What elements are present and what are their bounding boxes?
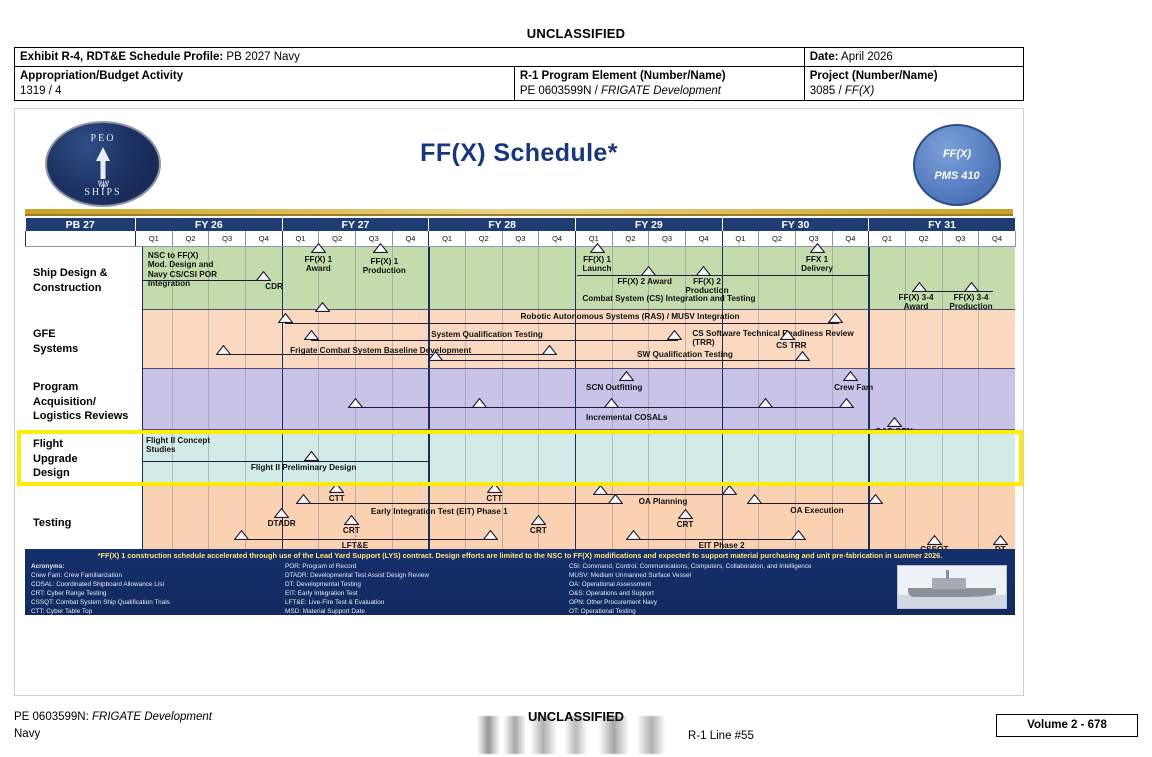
q-3-3: Q4 [685, 231, 722, 247]
gridline [428, 430, 429, 482]
acronyms-column-2: POR: Program of Record DTADR: Developmen… [285, 562, 569, 615]
schedule-bar [601, 494, 733, 495]
date-label: Date: [810, 51, 839, 63]
appropriation-cell: Appropriation/Budget Activity 1319 / 4 [15, 67, 515, 101]
gridline [208, 310, 209, 368]
gridline [318, 369, 319, 429]
q-0-1: Q2 [172, 231, 209, 247]
gridline [465, 247, 466, 309]
q-2-3: Q4 [539, 231, 576, 247]
milestone-triangle-icon [274, 508, 289, 518]
milestone-triangle-icon [993, 535, 1008, 545]
acronym-item: POR: Program of Record [285, 562, 555, 571]
program-element-cell: R-1 Program Element (Number/Name) PE 060… [514, 67, 804, 101]
milestone-triangle-icon [678, 509, 693, 519]
q-2-0: Q1 [429, 231, 466, 247]
acronym-item: MSD: Material Support Date [285, 607, 555, 615]
gridline [245, 369, 246, 429]
gridline [428, 369, 429, 429]
date-cell: Date: April 2026 [804, 48, 1023, 67]
program-element-number: PE 0603599N / [520, 85, 598, 97]
acronym-item: DTADR: Developmental Test Assist Design … [285, 571, 555, 580]
quarter-header-spacer [26, 231, 136, 247]
badge-line1: FF(X) [915, 148, 999, 160]
acronyms-column-1: Acronyms: Crew Fam: Crew Familiarization… [31, 562, 285, 615]
schedule-label: OA Planning [639, 497, 688, 506]
acronym-item: DT: Developmental Testing [285, 580, 555, 589]
schedule-label: CTT [486, 494, 502, 503]
schedule-label: CS Software Technical Readiness Review(T… [692, 329, 853, 348]
q-4-0: Q1 [722, 231, 759, 247]
milestone-triangle-icon [483, 530, 498, 540]
acronym-item: O&S: Operations and Support [569, 589, 859, 598]
acronym-item: CRT: Cyber Range Testing [31, 589, 271, 598]
schedule-label: FF(X) 1Production [363, 257, 406, 276]
milestone-triangle-icon [373, 243, 388, 253]
schedule-label: Combat System (CS) Integration and Testi… [582, 294, 755, 303]
milestone-triangle-icon [619, 371, 634, 381]
schedule-label: CRT [530, 526, 547, 535]
schedule-label: CDR [265, 282, 283, 291]
gridline [832, 369, 833, 429]
footer-service: Navy [14, 726, 212, 743]
gantt-chart: PB 27 FY 26 FY 27 FY 28 FY 29 FY 30 FY 3… [25, 218, 1015, 558]
gantt-corner-label: PB 27 [26, 218, 136, 231]
gridline [942, 247, 943, 309]
gridline [172, 369, 173, 429]
gridline [832, 483, 833, 557]
fy-header-0: FY 26 [136, 218, 283, 231]
milestone-triangle-icon [593, 485, 608, 495]
schedule-label: OA Execution [790, 506, 843, 515]
schedule-label: Crew Fam [834, 383, 873, 392]
gridline [208, 483, 209, 557]
gridline [868, 430, 869, 482]
gridline [868, 247, 869, 309]
milestone-triangle-icon [428, 351, 443, 361]
schedule-label: FF(X) 2 Award [617, 277, 672, 286]
schedule-bar [436, 360, 810, 361]
gridline [942, 310, 943, 368]
q-2-2: Q3 [502, 231, 539, 247]
gridline [282, 247, 283, 309]
gantt-lanes: NSC to FF(X)Mod. Design andNavy CS/CSI P… [25, 247, 1015, 558]
milestone-triangle-icon [795, 351, 810, 361]
appropriation-label: Appropriation/Budget Activity [20, 69, 509, 83]
q-4-1: Q2 [759, 231, 796, 247]
gridline [795, 247, 796, 309]
acronym-item: Crew Fam: Crew Familiarization [31, 571, 271, 580]
photo-superstructure [932, 578, 966, 589]
milestone-triangle-icon [722, 485, 737, 495]
schedule-bar [311, 340, 678, 341]
milestone-triangle-icon [758, 398, 773, 408]
gridline [428, 483, 429, 557]
q-5-2: Q3 [942, 231, 979, 247]
q-3-2: Q3 [649, 231, 686, 247]
gridline [795, 430, 796, 482]
milestone-triangle-icon [256, 271, 271, 281]
gridline [905, 369, 906, 429]
gridline [465, 369, 466, 429]
acronyms-column-3: C5I: Command, Control, Communications, C… [569, 562, 873, 615]
project-number: 3085 / [810, 85, 842, 97]
milestone-triangle-icon [667, 330, 682, 340]
schedule-label: Flight II ConceptStudies [146, 436, 210, 455]
gridline [575, 369, 576, 429]
schedule-label: NSC to FF(X)Mod. Design andNavy CS/CSI P… [148, 251, 217, 289]
program-element-name: FRIGATE Development [601, 85, 721, 97]
milestone-triangle-icon [912, 282, 927, 292]
acronym-item: CTT: Cyber Table Top [31, 607, 271, 615]
schedule-label: Early Integration Test (EIT) Phase 1 [371, 507, 508, 516]
milestone-triangle-icon [329, 483, 344, 493]
milestone-triangle-icon [304, 451, 319, 461]
gridline [942, 430, 943, 482]
milestone-triangle-icon [296, 494, 311, 504]
gridline [685, 430, 686, 482]
schedule-label: Robotic Autonomous Systems (RAS) / MUSV … [521, 312, 740, 321]
gantt-lane-gfe-systems: Robotic Autonomous Systems (RAS) / MUSV … [25, 310, 1015, 369]
lane-label-flight-upgrade: FlightUpgradeDesign [25, 430, 143, 488]
gridline [172, 483, 173, 557]
gold-divider-shadow [25, 214, 1013, 216]
q-0-2: Q3 [209, 231, 246, 247]
lane-label-ship-design: Ship Design &Construction [25, 247, 143, 315]
gridline [392, 369, 393, 429]
milestone-triangle-icon [868, 494, 883, 504]
gridline [978, 430, 979, 482]
gridline [575, 247, 576, 309]
gridline [868, 369, 869, 429]
milestone-triangle-icon [487, 483, 502, 493]
q-0-0: Q1 [136, 231, 173, 247]
appropriation-value: 1319 / 4 [20, 84, 509, 98]
milestone-triangle-icon [791, 530, 806, 540]
gridline [538, 247, 539, 309]
gridline [905, 483, 906, 557]
schedule-label: Incremental COSALs [586, 413, 667, 422]
milestone-triangle-icon [348, 398, 363, 408]
gridline [282, 430, 283, 482]
q-0-3: Q4 [245, 231, 282, 247]
gridline [318, 483, 319, 557]
gridline [355, 247, 356, 309]
milestone-triangle-icon [747, 494, 762, 504]
footer-r1-line: R-1 Line #55 [688, 730, 754, 742]
gridline [245, 430, 246, 482]
gridline [502, 369, 503, 429]
gridline [905, 430, 906, 482]
gridline [942, 369, 943, 429]
photo-mast [946, 570, 949, 579]
fy-header-1: FY 27 [282, 218, 429, 231]
milestone-triangle-icon [344, 515, 359, 525]
gridline [978, 310, 979, 368]
q-5-0: Q1 [869, 231, 906, 247]
gantt-table: PB 27 FY 26 FY 27 FY 28 FY 29 FY 30 FY 3… [25, 218, 1016, 247]
milestone-triangle-icon [839, 398, 854, 408]
q-1-3: Q4 [392, 231, 429, 247]
milestone-triangle-icon [927, 535, 942, 545]
acronym-item: COSAL: Coordinated Shipboard Allowance L… [31, 580, 271, 589]
gridline [575, 430, 576, 482]
acronyms-heading: Acronyms: [31, 562, 271, 571]
milestone-triangle-icon [604, 398, 619, 408]
acronym-item: OPN: Other Procurement Navy [569, 598, 859, 607]
schedule-label: System Qualification Testing [431, 330, 543, 339]
gridline [795, 369, 796, 429]
gridline [355, 310, 356, 368]
milestone-triangle-icon [311, 243, 326, 253]
gridline [832, 430, 833, 482]
slide-title: FF(X) Schedule* [15, 139, 1023, 168]
milestone-triangle-icon [531, 515, 546, 525]
schedule-label: SW Qualification Testing [637, 350, 733, 359]
project-cell: Project (Number/Name) 3085 / FF(X) [804, 67, 1023, 101]
gridline [868, 310, 869, 368]
gridline [538, 369, 539, 429]
milestone-triangle-icon [843, 371, 858, 381]
classification-banner-bottom: UNCLASSIFIED [0, 709, 1152, 724]
gridline [355, 430, 356, 482]
milestone-triangle-icon [304, 330, 319, 340]
gridline [502, 247, 503, 309]
lane-body-testing: CTTCTTEarly Integration Test (EIT) Phase… [135, 483, 1015, 557]
project-name: FF(X) [845, 85, 874, 97]
schedule-label: Flight II Preliminary Design [251, 463, 357, 472]
fiscal-year-header-row: PB 27 FY 26 FY 27 FY 28 FY 29 FY 30 FY 3… [26, 218, 1016, 231]
gridline [208, 369, 209, 429]
lane-body-ship-design: NSC to FF(X)Mod. Design andNavy CS/CSI P… [135, 247, 1015, 309]
r4-header-table: Exhibit R-4, RDT&E Schedule Profile: PB … [14, 47, 1024, 101]
gridline [428, 247, 429, 309]
milestone-triangle-icon [810, 243, 825, 253]
program-element-label: R-1 Program Element (Number/Name) [520, 69, 799, 83]
gridline [282, 369, 283, 429]
fy-header-5: FY 31 [869, 218, 1016, 231]
date-value: April 2026 [841, 51, 893, 63]
acronym-item: OT: Operational Testing [569, 607, 859, 615]
lane-body-flight-upgrade: Flight II ConceptStudiesFlight II Prelim… [135, 430, 1015, 482]
schedule-footnote: *FF(X) 1 construction schedule accelerat… [25, 549, 1015, 562]
gridline [502, 430, 503, 482]
q-2-1: Q2 [465, 231, 502, 247]
schedule-bar [634, 539, 803, 540]
schedule-label: CRT [343, 526, 360, 535]
milestone-triangle-icon [278, 313, 293, 323]
gridline [465, 430, 466, 482]
gridline [245, 310, 246, 368]
q-5-3: Q4 [979, 231, 1016, 247]
q-3-1: Q2 [612, 231, 649, 247]
schedule-bar [139, 461, 428, 462]
q-5-1: Q2 [905, 231, 942, 247]
milestone-triangle-icon [828, 313, 843, 323]
milestone-triangle-icon [542, 345, 557, 355]
gridline [978, 483, 979, 557]
schedule-label: SCN Outfitting [586, 383, 642, 392]
gridline [722, 369, 723, 429]
gantt-lane-ship-design: NSC to FF(X)Mod. Design andNavy CS/CSI P… [25, 247, 1015, 310]
gantt-lane-program-acq: SCN OutfittingIncremental COSALsCrew Fam… [25, 369, 1015, 430]
schedule-label: DTADR [268, 519, 296, 528]
photo-hull [908, 588, 996, 597]
fy-header-3: FY 29 [575, 218, 722, 231]
gridline [538, 430, 539, 482]
gridline [392, 483, 393, 557]
footer-volume-box: Volume 2 - 678 [996, 714, 1138, 737]
schedule-label: FF(X) 1Award [304, 255, 332, 274]
gridline [978, 369, 979, 429]
schedule-bar [141, 280, 265, 281]
lane-body-program-acq: SCN OutfittingIncremental COSALsCrew Fam… [135, 369, 1015, 429]
lane-body-gfe-systems: Robotic Autonomous Systems (RAS) / MUSV … [135, 310, 1015, 368]
gantt-lane-testing: CTTCTTEarly Integration Test (EIT) Phase… [25, 483, 1015, 558]
frigate-photo [897, 565, 1007, 609]
gridline [905, 310, 906, 368]
schedule-slide: PEO \\\|/// SHIPS FF(X) Schedule* FF(X) … [14, 108, 1024, 696]
q-4-3: Q4 [832, 231, 869, 247]
schedule-bar [920, 291, 993, 292]
schedule-bar [577, 275, 869, 276]
schedule-bar [285, 323, 839, 324]
milestone-triangle-icon [315, 302, 330, 312]
acronym-item: MUSV: Medium Unmanned Surface Vessel [569, 571, 859, 580]
badge-line2: PMS 410 [915, 170, 999, 182]
milestone-triangle-icon [626, 530, 641, 540]
milestone-triangle-icon [590, 243, 605, 253]
quarter-header-row: Q1 Q2 Q3 Q4 Q1 Q2 Q3 Q4 Q1 Q2 Q3 Q4 Q1 Q… [26, 231, 1016, 247]
gridline [392, 310, 393, 368]
gridline [245, 247, 246, 309]
acronym-item: EIT: Early Integration Test [285, 589, 555, 598]
gridline [758, 430, 759, 482]
schedule-bar [241, 539, 494, 540]
schedule-label: CS TRR [776, 341, 806, 350]
fy-header-2: FY 28 [429, 218, 576, 231]
schedule-label: CRT [677, 520, 694, 529]
gridline [245, 483, 246, 557]
pms-410-badge: FF(X) PMS 410 [913, 124, 1001, 206]
exhibit-cell: Exhibit R-4, RDT&E Schedule Profile: PB … [15, 48, 805, 67]
project-label: Project (Number/Name) [810, 69, 1018, 83]
schedule-label: Frigate Combat System Baseline Developme… [290, 346, 471, 355]
schedule-label: FF(X) 1Launch [582, 255, 611, 274]
gridline [648, 430, 649, 482]
schedule-bar [755, 503, 880, 504]
milestone-triangle-icon [964, 282, 979, 292]
schedule-bar [304, 503, 619, 504]
acronyms-block: *FF(X) 1 construction schedule accelerat… [25, 549, 1015, 615]
milestone-triangle-icon [780, 330, 795, 340]
schedule-label: CTT [329, 494, 345, 503]
milestone-triangle-icon [887, 417, 902, 427]
exhibit-value: PB 2027 Navy [226, 51, 300, 63]
milestone-triangle-icon [216, 345, 231, 355]
acronym-item: C5I: Command, Control, Communications, C… [569, 562, 859, 571]
acronym-item: CSSQT: Combat System Ship Qualification … [31, 598, 271, 607]
lane-label-program-acq: ProgramAcquisition/Logistics Reviews [25, 369, 143, 435]
gridline [685, 369, 686, 429]
gridline [758, 247, 759, 309]
schedule-label: FFX 1Delivery [801, 255, 833, 274]
gridline [172, 310, 173, 368]
gridline [575, 483, 576, 557]
classification-banner-top: UNCLASSIFIED [0, 26, 1152, 41]
gridline [795, 483, 796, 557]
milestone-triangle-icon [608, 494, 623, 504]
exhibit-label: Exhibit R-4, RDT&E Schedule Profile: [20, 51, 223, 63]
gridline [722, 430, 723, 482]
gridline [465, 483, 466, 557]
fy-header-4: FY 30 [722, 218, 869, 231]
gridline [612, 430, 613, 482]
acronyms-columns: Acronyms: Crew Fam: Crew Familiarization… [25, 562, 1015, 615]
gridline [392, 430, 393, 482]
gantt-lane-flight-upgrade: Flight II ConceptStudiesFlight II Prelim… [25, 430, 1015, 483]
milestone-triangle-icon [234, 530, 249, 540]
seal-bottom-text: SHIPS [47, 187, 159, 198]
acronym-item: OA: Operational Assessment [569, 580, 859, 589]
acronym-item: LFT&E: Live-Fire Test & Evaluation [285, 598, 555, 607]
milestone-triangle-icon [472, 398, 487, 408]
lane-label-gfe-systems: GFESystems [25, 310, 143, 374]
